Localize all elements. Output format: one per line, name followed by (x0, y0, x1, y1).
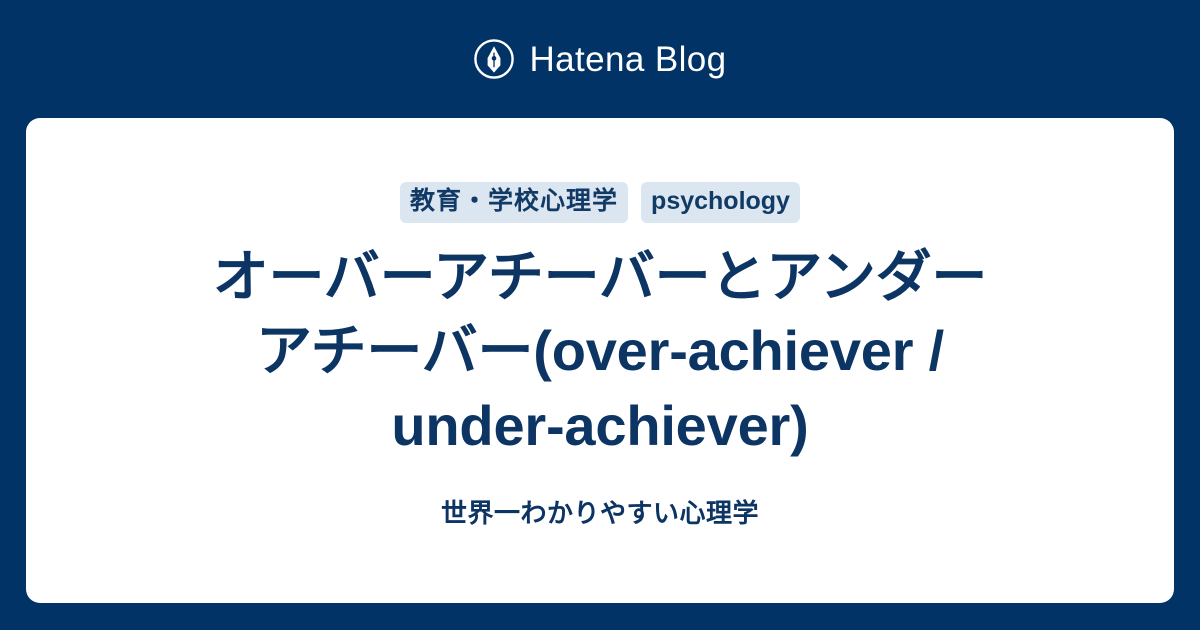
category-tag-list: 教育・学校心理学 psychology (400, 182, 800, 223)
entry-title: オーバーアチーバーとアンダーアチーバー(over-achiever / unde… (190, 240, 1010, 463)
category-tag[interactable]: 教育・学校心理学 (400, 182, 628, 223)
og-image-root: Hatena Blog 教育・学校心理学 psychology オーバーアチーバ… (0, 0, 1200, 630)
blog-name: 世界一わかりやすい心理学 (441, 495, 759, 531)
hatena-pen-nib-icon (473, 38, 515, 80)
brand-name: Hatena Blog (529, 42, 726, 77)
category-tag[interactable]: psychology (641, 182, 800, 223)
entry-card: 教育・学校心理学 psychology オーバーアチーバーとアンダーアチーバー(… (26, 118, 1174, 603)
brand-header: Hatena Blog (0, 0, 1200, 118)
